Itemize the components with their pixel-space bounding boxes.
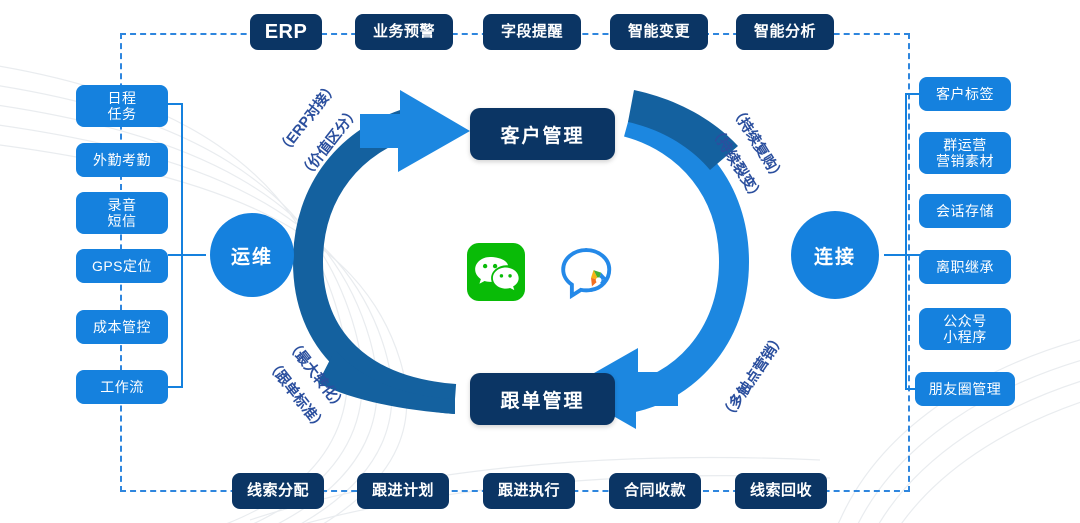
bottom-chip-follow-exec[interactable]: 跟进执行 [483, 473, 575, 509]
left-chip-workflow[interactable]: 工作流 [76, 370, 168, 404]
bottom-chip-contract-pay[interactable]: 合同收款 [609, 473, 701, 509]
right-chip-official-miniprogram-line1: 公众号 [943, 313, 987, 329]
node-order-management[interactable]: 跟单管理 [470, 373, 615, 425]
left-chip-recording-sms[interactable]: 录音 短信 [76, 192, 168, 234]
enterprise-wechat-icon [557, 245, 619, 303]
bottom-chip-follow-plan[interactable]: 跟进计划 [357, 473, 449, 509]
top-chip-business-alert[interactable]: 业务预警 [355, 14, 453, 50]
bottom-chip-lead-recycle[interactable]: 线索回收 [735, 473, 827, 509]
left-chip-schedule-task-line2: 任务 [108, 106, 137, 122]
bottom-chip-lead-assign[interactable]: 线索分配 [232, 473, 324, 509]
left-chip-cost-control[interactable]: 成本管控 [76, 310, 168, 344]
top-chip-smart-analysis[interactable]: 智能分析 [736, 14, 834, 50]
top-chip-smart-change[interactable]: 智能变更 [610, 14, 708, 50]
wechat-icon [467, 243, 525, 301]
diagram-canvas: ERP 业务预警 字段提醒 智能变更 智能分析 线索分配 跟进计划 跟进执行 合… [0, 0, 1080, 523]
node-customer-management[interactable]: 客户管理 [470, 108, 615, 160]
left-chip-recording-sms-line1: 录音 [108, 197, 137, 213]
left-chip-gps-location[interactable]: GPS定位 [76, 249, 168, 283]
left-chip-schedule-task[interactable]: 日程 任务 [76, 85, 168, 127]
right-chip-customer-tag[interactable]: 客户标签 [919, 77, 1011, 111]
right-chip-resign-handover[interactable]: 离职继承 [919, 250, 1011, 284]
top-chip-field-reminder[interactable]: 字段提醒 [483, 14, 581, 50]
top-chip-erp[interactable]: ERP [250, 14, 322, 50]
circle-connect[interactable]: 连接 [791, 211, 879, 299]
right-chip-official-miniprogram-line2: 小程序 [943, 329, 987, 345]
right-chip-official-miniprogram[interactable]: 公众号 小程序 [919, 308, 1011, 350]
left-chip-field-attendance[interactable]: 外勤考勤 [76, 143, 168, 177]
left-chip-recording-sms-line2: 短信 [108, 213, 137, 229]
right-chip-group-ops-material-line1: 群运营 [943, 137, 987, 153]
right-chip-group-ops-material-line2: 营销素材 [936, 153, 994, 169]
right-chip-group-ops-material[interactable]: 群运营 营销素材 [919, 132, 1011, 174]
circle-operations[interactable]: 运维 [210, 213, 294, 297]
left-chip-schedule-task-line1: 日程 [108, 90, 137, 106]
right-chip-session-archive[interactable]: 会话存储 [919, 194, 1011, 228]
right-chip-moments-manage[interactable]: 朋友圈管理 [915, 372, 1015, 406]
